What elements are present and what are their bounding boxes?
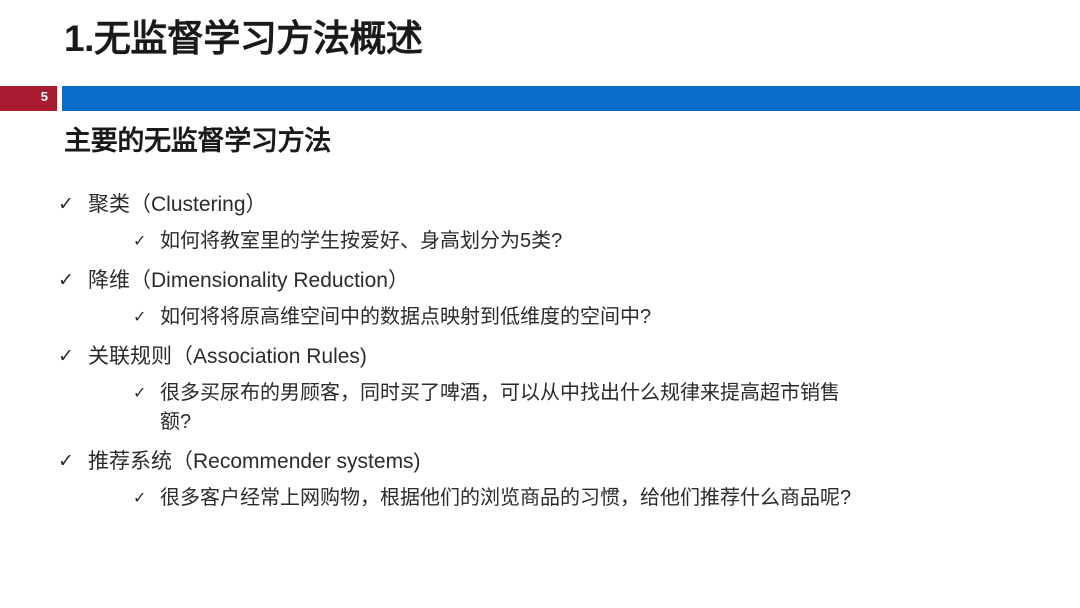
slide-title: 1.无监督学习方法概述 xyxy=(64,16,422,62)
check-mark-icon: ✓ xyxy=(133,484,160,513)
list-item-level2-label: 很多客户经常上网购物，根据他们的浏览商品的习惯，给他们推荐什么商品呢? xyxy=(160,484,851,513)
bullet-group: ✓ 降维（Dimensionality Reduction） ✓ 如何将将原高维… xyxy=(58,266,1058,332)
bullet-group: ✓ 关联规则（Association Rules) ✓ 很多买尿布的男顾客，同时… xyxy=(58,342,1058,437)
header-bar: 5 xyxy=(0,86,1080,111)
section-heading: 主要的无监督学习方法 xyxy=(64,124,331,159)
check-mark-icon: ✓ xyxy=(133,379,160,408)
bullet-list: ✓ 聚类（Clustering） ✓ 如何将教室里的学生按爱好、身高划分为5类?… xyxy=(58,190,1058,523)
list-item-level1: ✓ 关联规则（Association Rules) xyxy=(58,342,1058,372)
list-item-level1-label: 关联规则（Association Rules) xyxy=(88,342,367,372)
list-item-level1: ✓ 推荐系统（Recommender systems) xyxy=(58,447,1058,477)
list-item-level1: ✓ 聚类（Clustering） xyxy=(58,190,1058,220)
check-mark-icon: ✓ xyxy=(58,342,88,372)
check-mark-icon: ✓ xyxy=(58,190,88,220)
list-item-level1-label: 推荐系统（Recommender systems) xyxy=(88,447,421,477)
list-item-level1-label: 降维（Dimensionality Reduction） xyxy=(88,266,409,296)
list-item-level1: ✓ 降维（Dimensionality Reduction） xyxy=(58,266,1058,296)
list-item-level2: ✓ 如何将教室里的学生按爱好、身高划分为5类? xyxy=(133,227,1058,256)
check-mark-icon: ✓ xyxy=(133,227,160,256)
check-mark-icon: ✓ xyxy=(58,447,88,477)
list-item-level2: ✓ 如何将将原高维空间中的数据点映射到低维度的空间中? xyxy=(133,303,1058,332)
page-number-badge: 5 xyxy=(0,86,57,111)
check-mark-icon: ✓ xyxy=(133,303,160,332)
list-item-level1-label: 聚类（Clustering） xyxy=(88,190,267,220)
bullet-group: ✓ 推荐系统（Recommender systems) ✓ 很多客户经常上网购物… xyxy=(58,447,1058,513)
list-item-level2-label: 如何将将原高维空间中的数据点映射到低维度的空间中? xyxy=(160,303,651,332)
list-item-level2: ✓ 很多客户经常上网购物，根据他们的浏览商品的习惯，给他们推荐什么商品呢? xyxy=(133,484,1058,513)
header-accent-rule xyxy=(62,86,1080,111)
list-item-level2-label: 如何将教室里的学生按爱好、身高划分为5类? xyxy=(160,227,562,256)
presentation-slide: 1.无监督学习方法概述 5 主要的无监督学习方法 ✓ 聚类（Clustering… xyxy=(0,0,1080,608)
check-mark-icon: ✓ xyxy=(58,266,88,296)
list-item-level2-label: 很多买尿布的男顾客，同时买了啤酒，可以从中找出什么规律来提高超市销售额? xyxy=(160,379,860,437)
list-item-level2: ✓ 很多买尿布的男顾客，同时买了啤酒，可以从中找出什么规律来提高超市销售额? xyxy=(133,379,1058,437)
bullet-group: ✓ 聚类（Clustering） ✓ 如何将教室里的学生按爱好、身高划分为5类? xyxy=(58,190,1058,256)
